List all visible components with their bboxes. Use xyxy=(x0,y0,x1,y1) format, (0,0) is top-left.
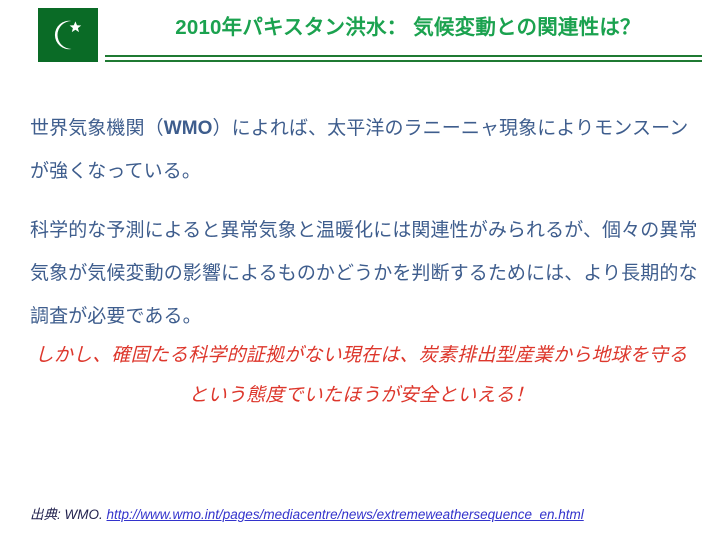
slide-canvas: 2010年パキスタン洪水： 気候変動との関連性は？ 世界気象機関（WMO）によれ… xyxy=(0,0,720,540)
source-url-link[interactable]: http://www.wmo.int/pages/mediacentre/new… xyxy=(107,507,584,522)
emphasis-line-2: という態度でいたほうが安全といえる！ xyxy=(30,376,692,416)
body-paragraph-1: 世界気象機関（WMO）によれば、太平洋のラニーニャ現象によりモンスーンが強くなっ… xyxy=(30,107,702,193)
slide-body: 世界気象機関（WMO）によれば、太平洋のラニーニャ現象によりモンスーンが強くなっ… xyxy=(0,0,720,540)
paragraph-1-lead: 世界気象機関（ xyxy=(30,118,164,139)
wmo-abbreviation: WMO xyxy=(164,118,213,139)
source-prefix-label: 出典: WMO. xyxy=(30,507,107,522)
emphasis-statement: しかし、確固たる科学的証拠がない現在は、炭素排出型産業から地球を守る という態度… xyxy=(30,336,692,416)
source-citation: 出典: WMO. http://www.wmo.int/pages/mediac… xyxy=(30,503,584,523)
emphasis-line-1: しかし、確固たる科学的証拠がない現在は、炭素排出型産業から地球を守る xyxy=(30,336,692,376)
body-paragraph-2: 科学的な予測によると異常気象と温暖化には関連性がみられるが、個々の異常気象が気候… xyxy=(30,209,702,338)
